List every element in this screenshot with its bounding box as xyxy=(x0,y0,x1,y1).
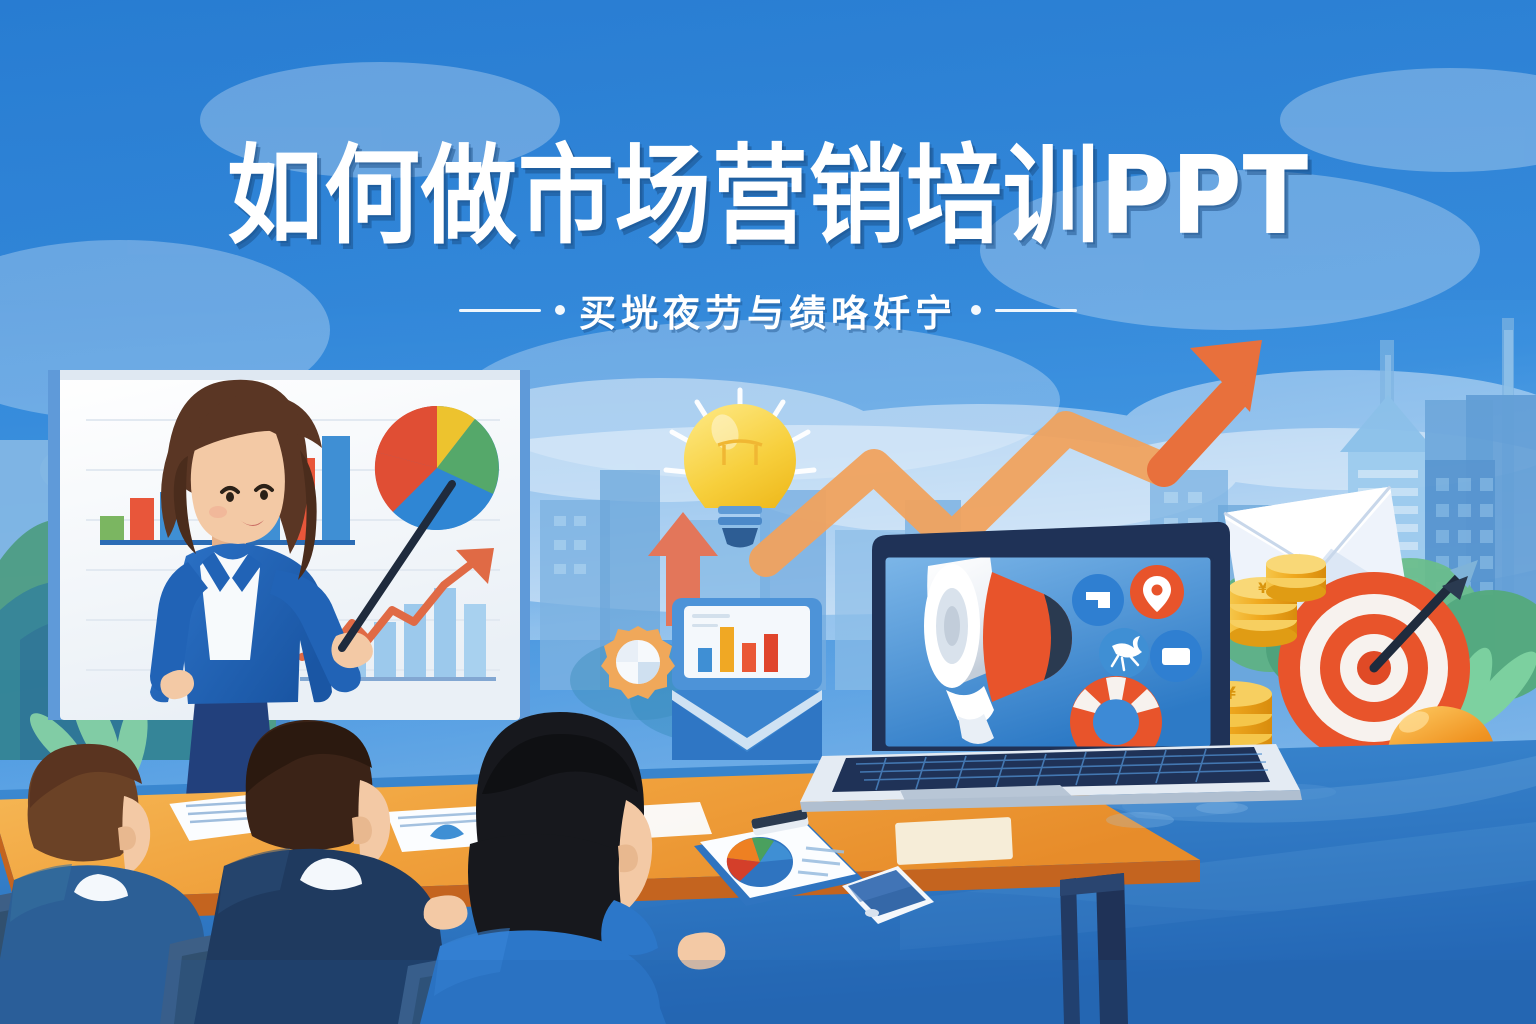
wb-bar-6 xyxy=(322,436,350,542)
wb-bar-1 xyxy=(100,516,124,542)
screen-icon-video xyxy=(1150,630,1202,682)
wb-bar-2 xyxy=(130,498,154,542)
bg-bar-2 xyxy=(720,627,734,672)
sticky-note xyxy=(895,817,1013,865)
screen-icon-share-bird xyxy=(1099,628,1149,678)
laptop-with-megaphone xyxy=(800,522,1302,812)
bg-bar-3 xyxy=(742,643,756,672)
illustration-scene: ¥ ¥ xyxy=(0,0,1536,1024)
screen-icon-location-pin xyxy=(1130,565,1184,619)
background-analytics-panel xyxy=(672,598,822,760)
screen-icon-mail xyxy=(1072,574,1124,626)
bg-bar-4 xyxy=(764,634,778,672)
bg-bar-1 xyxy=(698,648,712,672)
poster-canvas: ¥ ¥ xyxy=(0,0,1536,1024)
